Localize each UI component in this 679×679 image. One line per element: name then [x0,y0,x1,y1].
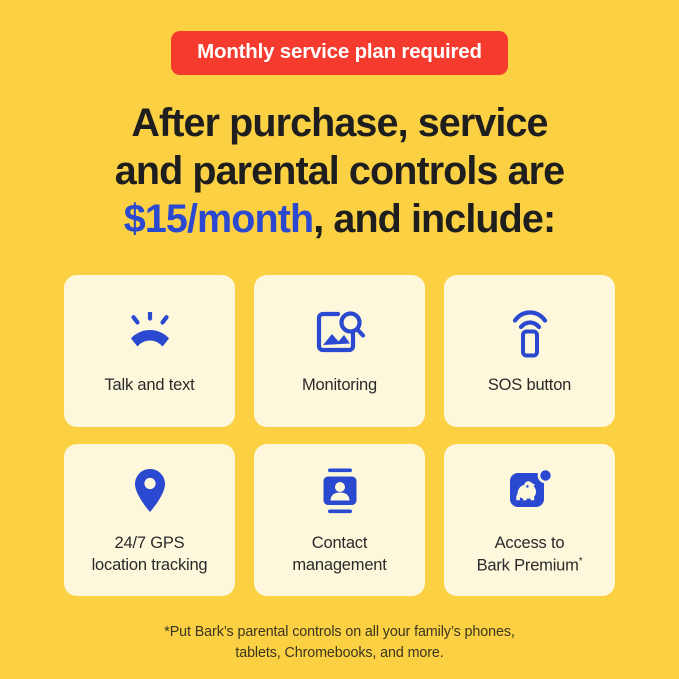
footnote-line-1: *Put Bark’s parental controls on all you… [164,624,515,640]
feature-label-line-1: Talk and text [104,376,194,394]
feature-card-label: Talk and text [104,375,194,397]
feature-label-line-1: Monitoring [302,376,377,394]
feature-label-line-1: Contact [312,534,367,552]
headline-price: $15/month [124,197,313,241]
feature-label-footnote-marker: * [579,556,583,567]
feature-label-line-2: management [292,556,386,574]
feature-label-line-2: location tracking [92,556,208,574]
feature-card-label: SOS button [488,375,571,397]
page-title: After purchase, service and parental con… [40,99,640,244]
map-pin-icon [130,463,170,519]
feature-label-line-1: 24/7 GPS [115,534,185,552]
feature-card-sos-button: SOS button [444,275,615,427]
contact-card-icon [318,463,362,519]
feature-card-talk-and-text: Talk and text [64,275,235,427]
badge-row: Monthly service plan required [0,31,679,75]
feature-card-bark-premium: Access to Bark Premium* [444,444,615,596]
feature-label-line-2: Bark Premium [477,556,579,574]
footnote: *Put Bark’s parental controls on all you… [90,622,590,663]
feature-card-label: Monitoring [302,375,377,397]
bark-app-dog-icon [504,463,556,519]
status-badge: Monthly service plan required [171,31,508,75]
feature-card-label: Access to Bark Premium* [477,533,583,577]
headline-line-2: and parental controls are [115,149,564,193]
feature-card-contact-management: Contact management [254,444,425,596]
image-search-icon [314,305,366,361]
feature-card-label: Contact management [292,533,386,577]
footnote-line-2: tablets, Chromebooks, and more. [235,645,443,661]
phone-signal-icon [508,305,552,361]
feature-label-line-1: SOS button [488,376,571,394]
ringing-phone-icon [124,305,176,361]
headline-line-3-tail: , and include: [313,197,555,241]
headline-line-1: After purchase, service [131,101,547,145]
feature-card-monitoring: Monitoring [254,275,425,427]
feature-card-label: 24/7 GPS location tracking [92,533,208,577]
feature-label-line-1: Access to [495,534,565,552]
feature-card-gps-tracking: 24/7 GPS location tracking [64,444,235,596]
feature-grid: Talk and text Monitoring SOS button [64,275,615,596]
